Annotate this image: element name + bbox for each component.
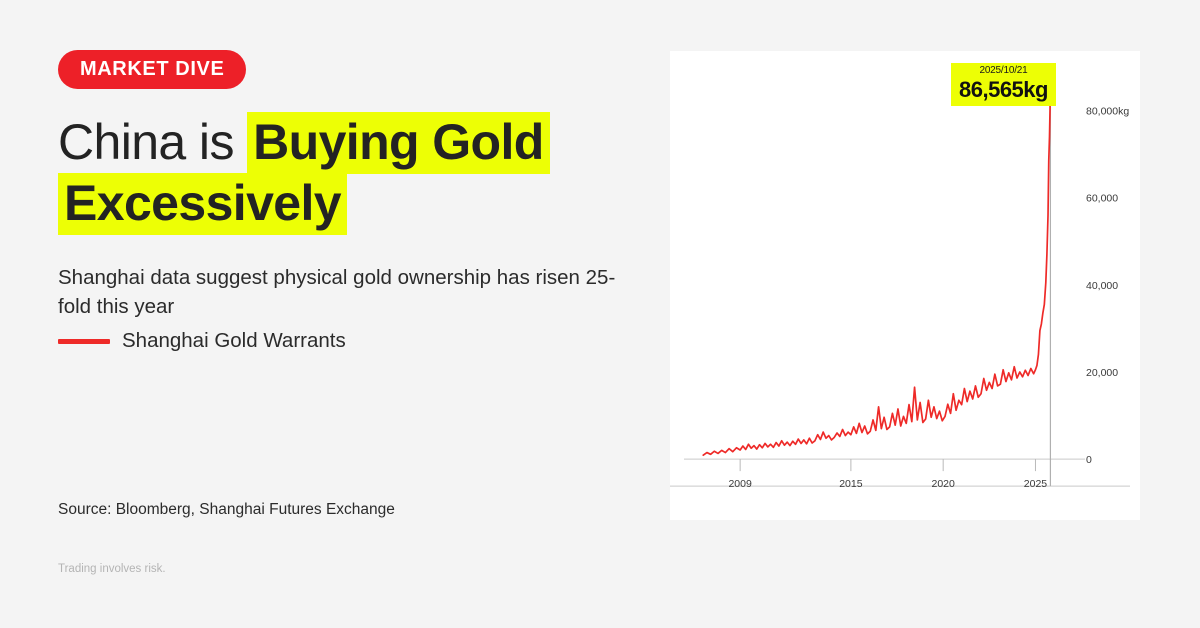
y-axis-tick-label: 80,000kg	[1086, 106, 1129, 118]
x-axis-tick-label: 2025	[1024, 478, 1048, 490]
legend-line-swatch	[58, 339, 110, 344]
headline-plain-text: China is	[58, 114, 247, 170]
headline-highlight-1: Buying Gold	[247, 112, 550, 174]
callout-date: 2025/10/21	[959, 66, 1048, 76]
headline-highlight-2: Excessively	[58, 173, 347, 235]
callout-value: 86,565kg	[959, 79, 1048, 101]
y-axis-tick-label: 40,000	[1086, 280, 1118, 292]
y-axis-tick-labels: 020,00040,00060,00080,000kg	[1086, 106, 1129, 467]
x-axis-tick-label: 2009	[728, 478, 752, 490]
market-dive-badge: MARKET DIVE	[58, 50, 246, 89]
value-callout: 2025/10/21 86,565kg	[951, 63, 1056, 106]
source-attribution: Source: Bloomberg, Shanghai Futures Exch…	[58, 501, 395, 519]
x-axis-tick-labels: 2009201520202025	[728, 478, 1047, 490]
legend-series-label: Shanghai Gold Warrants	[122, 329, 346, 353]
y-axis-tick-label: 60,000	[1086, 193, 1118, 205]
x-axis-tick-label: 2015	[839, 478, 863, 490]
y-axis-tick-label: 0	[1086, 454, 1092, 466]
risk-disclaimer: Trading involves risk.	[58, 563, 166, 575]
x-axis-ticks	[740, 459, 1035, 471]
x-axis-tick-label: 2020	[931, 478, 955, 490]
series-line-shanghai-gold-warrants	[703, 82, 1050, 455]
y-axis-tick-label: 20,000	[1086, 367, 1118, 379]
gold-warrants-line-chart: 020,00040,00060,00080,000kg 200920152020…	[670, 51, 1140, 520]
page-title: China is Buying Gold Excessively	[58, 112, 618, 234]
chart-legend: Shanghai Gold Warrants	[58, 329, 346, 353]
chart-panel: 020,00040,00060,00080,000kg 200920152020…	[670, 51, 1140, 520]
subtitle-text: Shanghai data suggest physical gold owne…	[58, 263, 618, 321]
content-column: MARKET DIVE China is Buying Gold Excessi…	[58, 0, 658, 628]
